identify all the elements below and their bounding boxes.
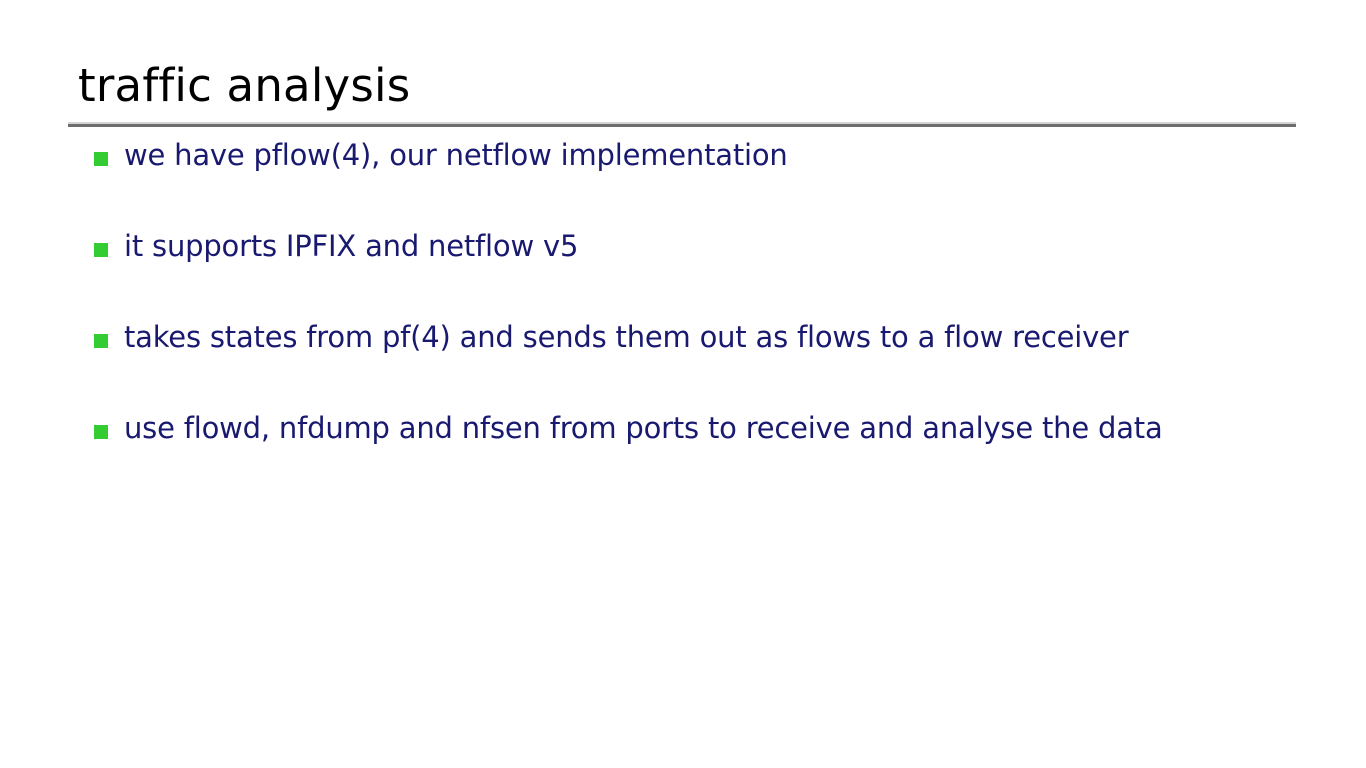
list-item-label: takes states from pf(4) and sends them o… xyxy=(124,318,1294,356)
list-item: it supports IPFIX and netflow v5 xyxy=(94,227,1294,318)
list-item: use flowd, nfdump and nfsen from ports t… xyxy=(94,409,1294,500)
list-item: we have pflow(4), our netflow implementa… xyxy=(94,136,1294,227)
square-bullet-icon xyxy=(94,243,108,257)
square-bullet-icon xyxy=(94,334,108,348)
presentation-slide: traffic analysis we have pflow(4), our n… xyxy=(0,0,1366,768)
list-item: takes states from pf(4) and sends them o… xyxy=(94,318,1294,409)
list-item-label: use flowd, nfdump and nfsen from ports t… xyxy=(124,409,1294,447)
bullet-list: we have pflow(4), our netflow implementa… xyxy=(94,136,1294,500)
square-bullet-icon xyxy=(94,425,108,439)
list-item-label: it supports IPFIX and netflow v5 xyxy=(124,227,1294,265)
square-bullet-icon xyxy=(94,152,108,166)
title-divider xyxy=(68,122,1296,127)
list-item-label: we have pflow(4), our netflow implementa… xyxy=(124,136,1294,174)
page-title: traffic analysis xyxy=(78,58,410,114)
divider-dark-band xyxy=(68,124,1296,127)
